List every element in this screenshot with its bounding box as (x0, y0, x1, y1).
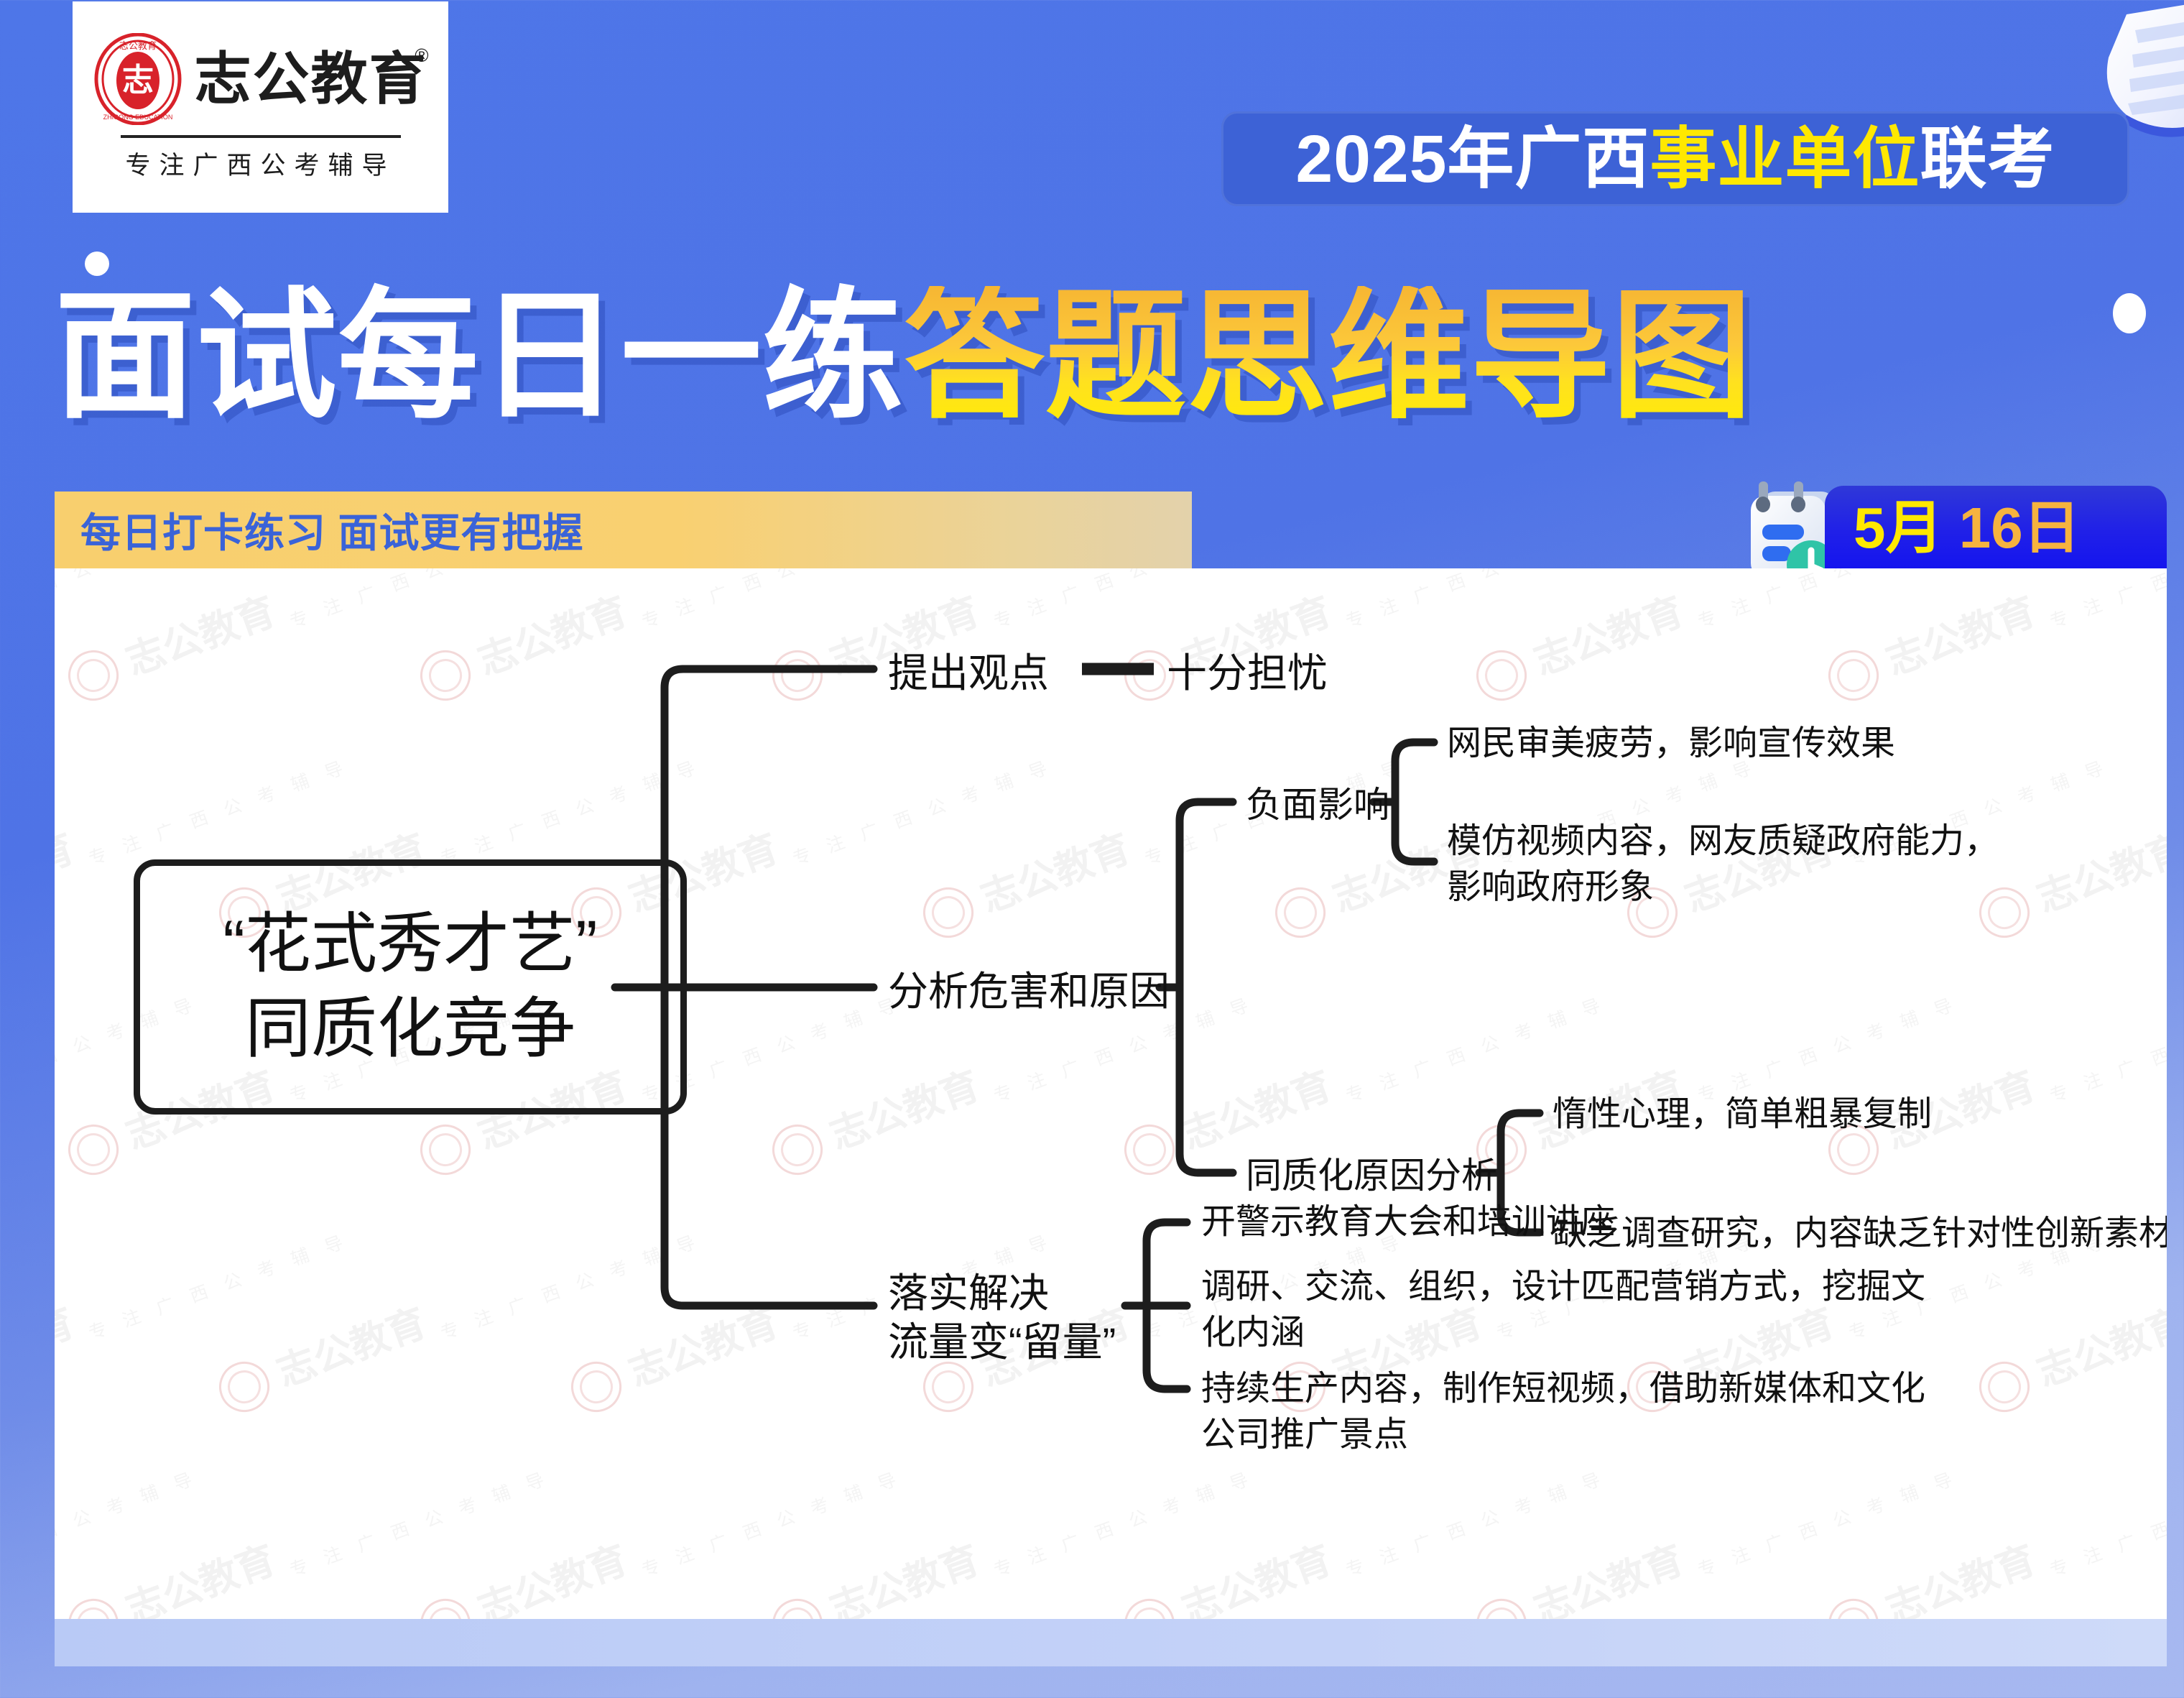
mindmap-branch-2-label: 分析危害和原因 (888, 964, 1170, 1018)
logo-divider (121, 135, 401, 138)
svg-text:志: 志 (122, 63, 154, 98)
subtitle-bar: 每日打卡练习 面试更有把握 (55, 492, 1192, 568)
date-month-unit: 月 (1886, 496, 1943, 560)
page-title-yellow: 答题思维导图 (904, 286, 1753, 427)
mindmap-branch-3-label: 落实解决 流量变“留量” (888, 1269, 1116, 1367)
brand-name: 志公教育 ® (195, 50, 427, 107)
mindmap-branch-2-child-1-item-1: 网民审美疲劳，影响宣传效果 (1447, 721, 2137, 767)
mindmap-branch-2-child-1-item-2: 模仿视频内容，网友质疑政府能力， 影响政府形象 (1447, 818, 2165, 911)
exam-badge: 2025年广西事业单位联考 (1221, 111, 2129, 206)
mindmap-branch-1-leaf: 十分担忧 (1167, 646, 1328, 700)
mindmap-branch-2-child-2-item-1: 惰性心理，简单粗暴复制 (1553, 1092, 2167, 1138)
exam-badge-prefix: 2025年广西 (1296, 121, 1650, 196)
card-foot-band (55, 1619, 2167, 1666)
exam-badge-suffix: 联考 (1920, 121, 2055, 196)
subtitle-text: 每日打卡练习 面试更有把握 (80, 501, 584, 559)
mindmap-branch-3-item-2: 调研、交流、组织，设计匹配营销方式，挖掘文 化内涵 (1201, 1264, 1934, 1357)
brand-tagline: 专注广西公考辅导 (125, 145, 395, 182)
date-label: 5月 16日 (1854, 499, 2081, 557)
brand-logo: 志 志公教育 ZHIGONG EDUCATION 志公教育 ® 专注广西公考辅导 (73, 1, 448, 213)
mindmap-branch-2-child-1-label: 负面影响 (1246, 781, 1389, 829)
mindmap-root-node: “花式秀才艺” 同质化竞争 (134, 859, 687, 1115)
svg-text:ZHIGONG EDUCATION: ZHIGONG EDUCATION (103, 114, 172, 121)
exam-badge-highlight: 事业单位 (1649, 121, 1920, 196)
exam-badge-label: 2025年广西事业单位联考 (1296, 126, 2055, 193)
brand-seal-icon: 志 志公教育 ZHIGONG EDUCATION (94, 33, 182, 125)
mindmap-branch-3-item-1: 开警示教育大会和培训讲座 (1201, 1199, 1920, 1245)
date-month-number: 5 (1854, 496, 1886, 560)
registered-mark: ® (415, 46, 430, 65)
date-badge: 5月 16日 (1825, 486, 2167, 570)
mindmap-branch-3-item-3: 持续生产内容，制作短视频，借助新媒体和文化 公司推广景点 (1201, 1366, 1934, 1459)
mindmap-card: 志公教育专 注 广 西 公 考 辅 导志公教育专 注 广 西 公 考 辅 导志公… (55, 568, 2167, 1619)
page-title: 面试每日一练答题思维导图 (55, 279, 2138, 434)
mindmap-branch-1-label: 提出观点 (888, 646, 1049, 700)
decorative-dot-left (85, 252, 109, 276)
brand-name-text: 志公教育 (195, 47, 427, 111)
mindmap-root-line2: 同质化竞争 (245, 987, 575, 1072)
mindmap: “花式秀才艺” 同质化竞争 提出观点 十分担忧 分析危害和原因 负面影响 网民审… (55, 568, 2167, 1619)
page-title-white: 面试每日一练 (55, 286, 904, 427)
mindmap-root-line1: “花式秀才艺” (223, 903, 597, 987)
date-day-number: 16 (1959, 496, 2023, 560)
svg-text:志公教育: 志公教育 (119, 40, 156, 51)
mindmap-branch-2-child-2-label: 同质化原因分析 (1246, 1152, 1497, 1200)
date-day-unit: 日 (2023, 496, 2081, 560)
